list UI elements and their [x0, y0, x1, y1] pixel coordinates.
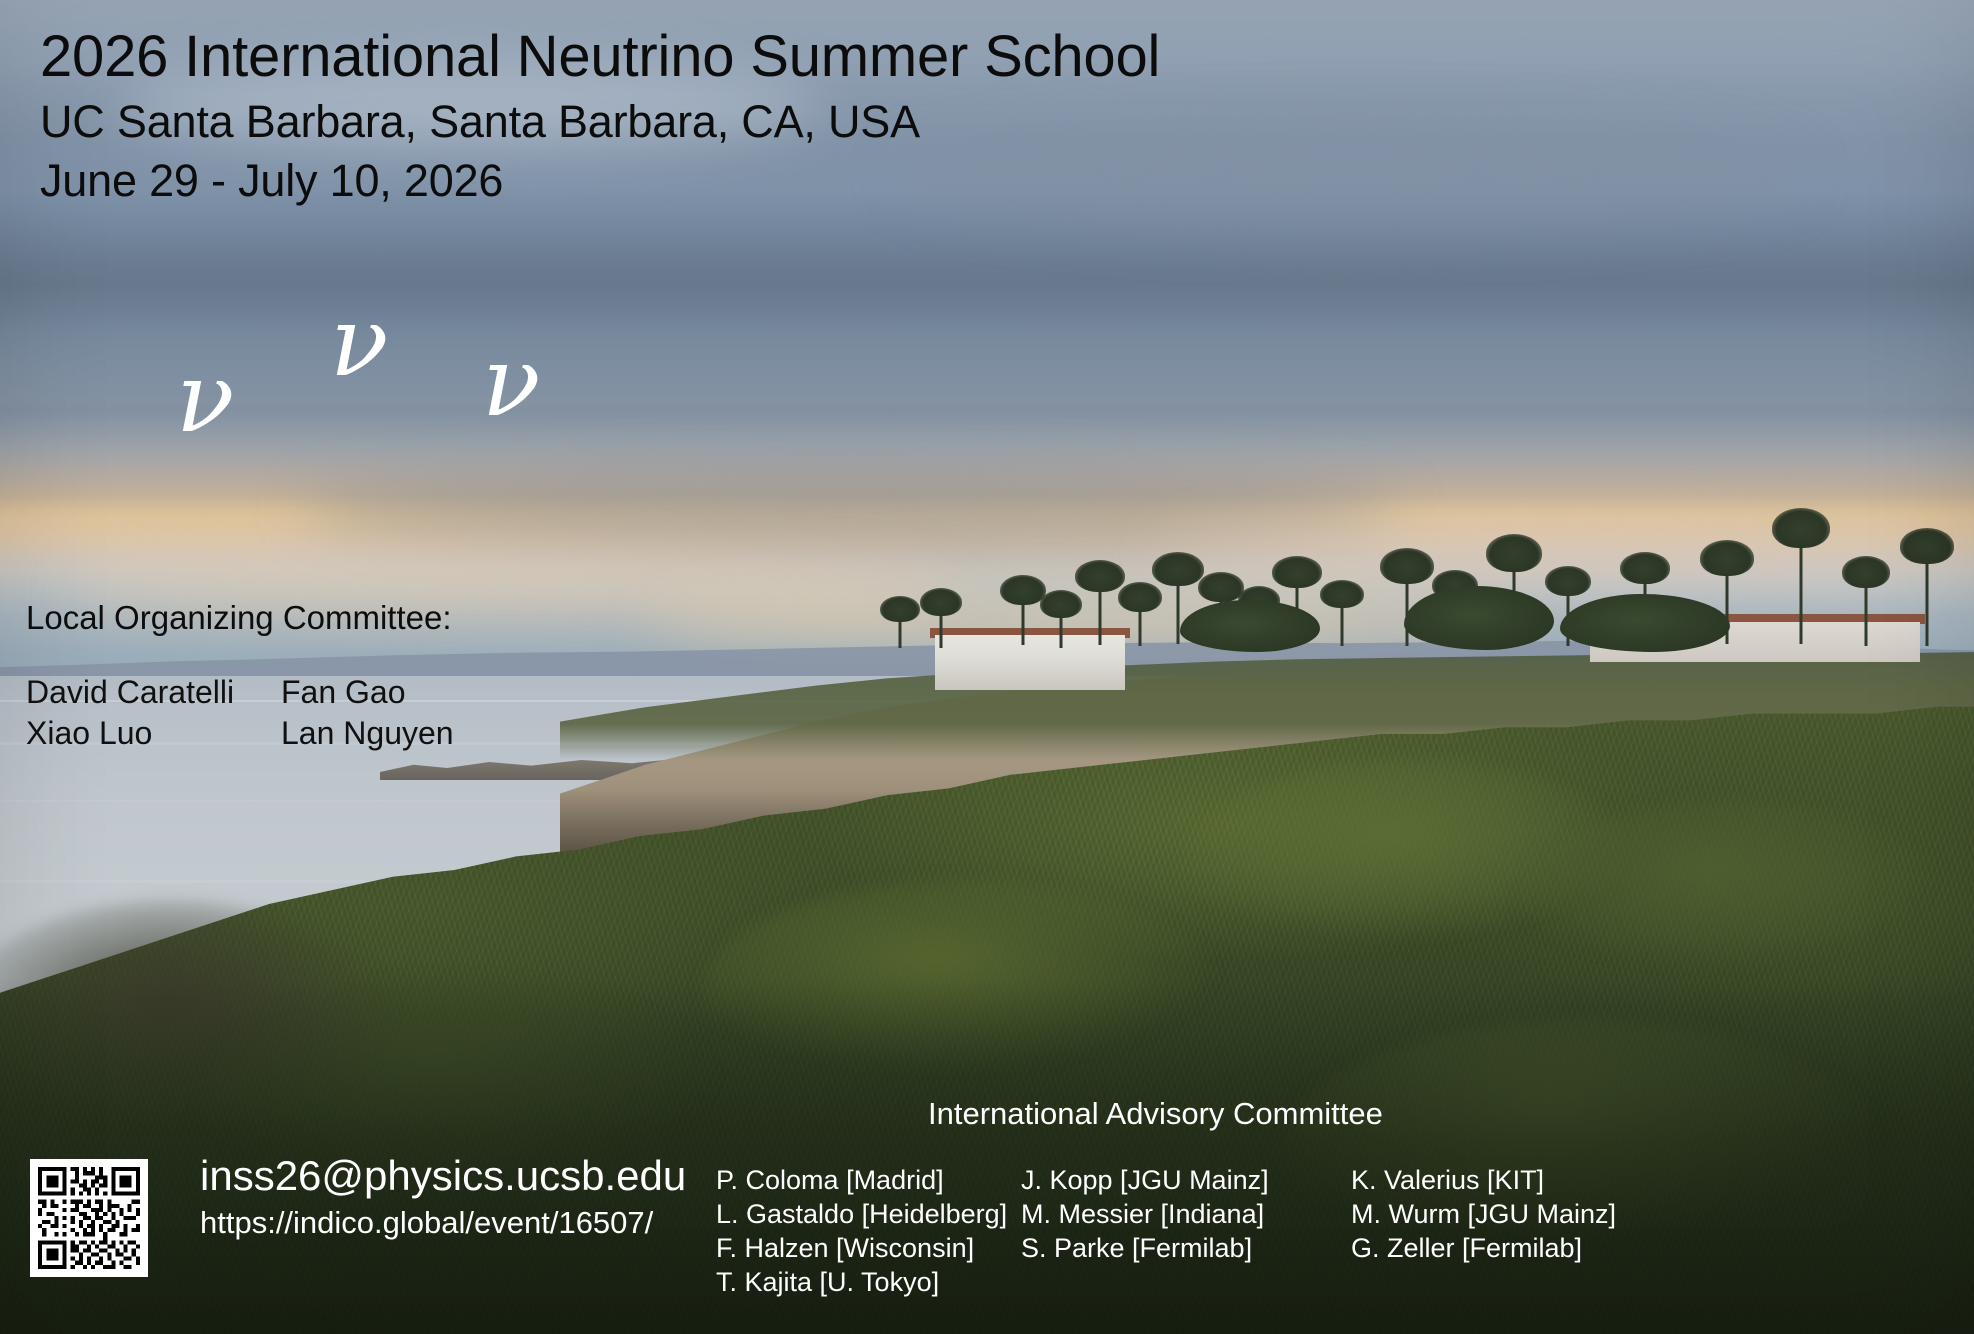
palm-tree	[1320, 580, 1364, 646]
local-organizing-committee: Local Organizing Committee: David Carate…	[26, 598, 454, 754]
advisory-committee-column: J. Kopp [JGU Mainz] M. Messier [Indiana]…	[1021, 1163, 1351, 1299]
neutrino-symbol-icon: ν	[482, 334, 540, 430]
neutrino-symbol-icon: ν	[330, 294, 388, 390]
local-committee-member: Lan Nguyen	[281, 713, 454, 754]
dates-text: June 29 - July 10, 2026	[40, 151, 1160, 210]
poster-header: 2026 International Neutrino Summer Schoo…	[40, 22, 1160, 210]
palm-tree	[920, 588, 962, 648]
tree-clump	[1404, 586, 1554, 650]
advisory-committee-member: L. Gastaldo [Heidelberg]	[716, 1197, 1021, 1231]
neutrino-symbol-icon: ν	[176, 350, 234, 446]
page-title: 2026 International Neutrino Summer Schoo…	[40, 22, 1160, 92]
advisory-committee-member: J. Kopp [JGU Mainz]	[1021, 1163, 1351, 1197]
advisory-committee-member: K. Valerius [KIT]	[1351, 1163, 1651, 1197]
local-committee-members: David Caratelli Fan Gao Xiao Luo Lan Ngu…	[26, 672, 454, 754]
advisory-committee-member: P. Coloma [Madrid]	[716, 1163, 1021, 1197]
local-committee-member: Fan Gao	[281, 672, 454, 713]
palm-tree	[1842, 556, 1890, 646]
local-committee-member: David Caratelli	[26, 672, 281, 713]
venue-text: UC Santa Barbara, Santa Barbara, CA, USA	[40, 92, 1160, 151]
palm-tree	[1772, 508, 1830, 644]
advisory-committee-column: P. Coloma [Madrid] L. Gastaldo [Heidelbe…	[716, 1163, 1021, 1299]
advisory-committee-member: F. Halzen [Wisconsin]	[716, 1231, 1021, 1265]
advisory-committee-member: G. Zeller [Fermilab]	[1351, 1231, 1651, 1265]
tree-clump	[1560, 594, 1730, 652]
advisory-committee-columns: P. Coloma [Madrid] L. Gastaldo [Heidelbe…	[716, 1163, 1651, 1299]
contact-url[interactable]: https://indico.global/event/16507/	[200, 1202, 686, 1244]
palm-tree	[880, 596, 920, 648]
local-committee-title: Local Organizing Committee:	[26, 598, 454, 638]
qr-code-icon[interactable]	[30, 1159, 148, 1277]
tree-clump	[1180, 600, 1320, 652]
contact-email[interactable]: inss26@physics.ucsb.edu	[200, 1150, 686, 1202]
advisory-committee-member: S. Parke [Fermilab]	[1021, 1231, 1351, 1265]
advisory-committee-member: T. Kajita [U. Tokyo]	[716, 1265, 1021, 1299]
palm-tree	[1900, 528, 1954, 646]
contact-block: inss26@physics.ucsb.edu https://indico.g…	[200, 1150, 686, 1244]
conference-poster: 2026 International Neutrino Summer Schoo…	[0, 0, 1974, 1334]
advisory-committee-title: International Advisory Committee	[928, 1095, 1383, 1133]
local-committee-member: Xiao Luo	[26, 713, 281, 754]
advisory-committee-column: K. Valerius [KIT] M. Wurm [JGU Mainz] G.…	[1351, 1163, 1651, 1299]
advisory-committee-member: M. Messier [Indiana]	[1021, 1197, 1351, 1231]
advisory-committee-member: M. Wurm [JGU Mainz]	[1351, 1197, 1651, 1231]
